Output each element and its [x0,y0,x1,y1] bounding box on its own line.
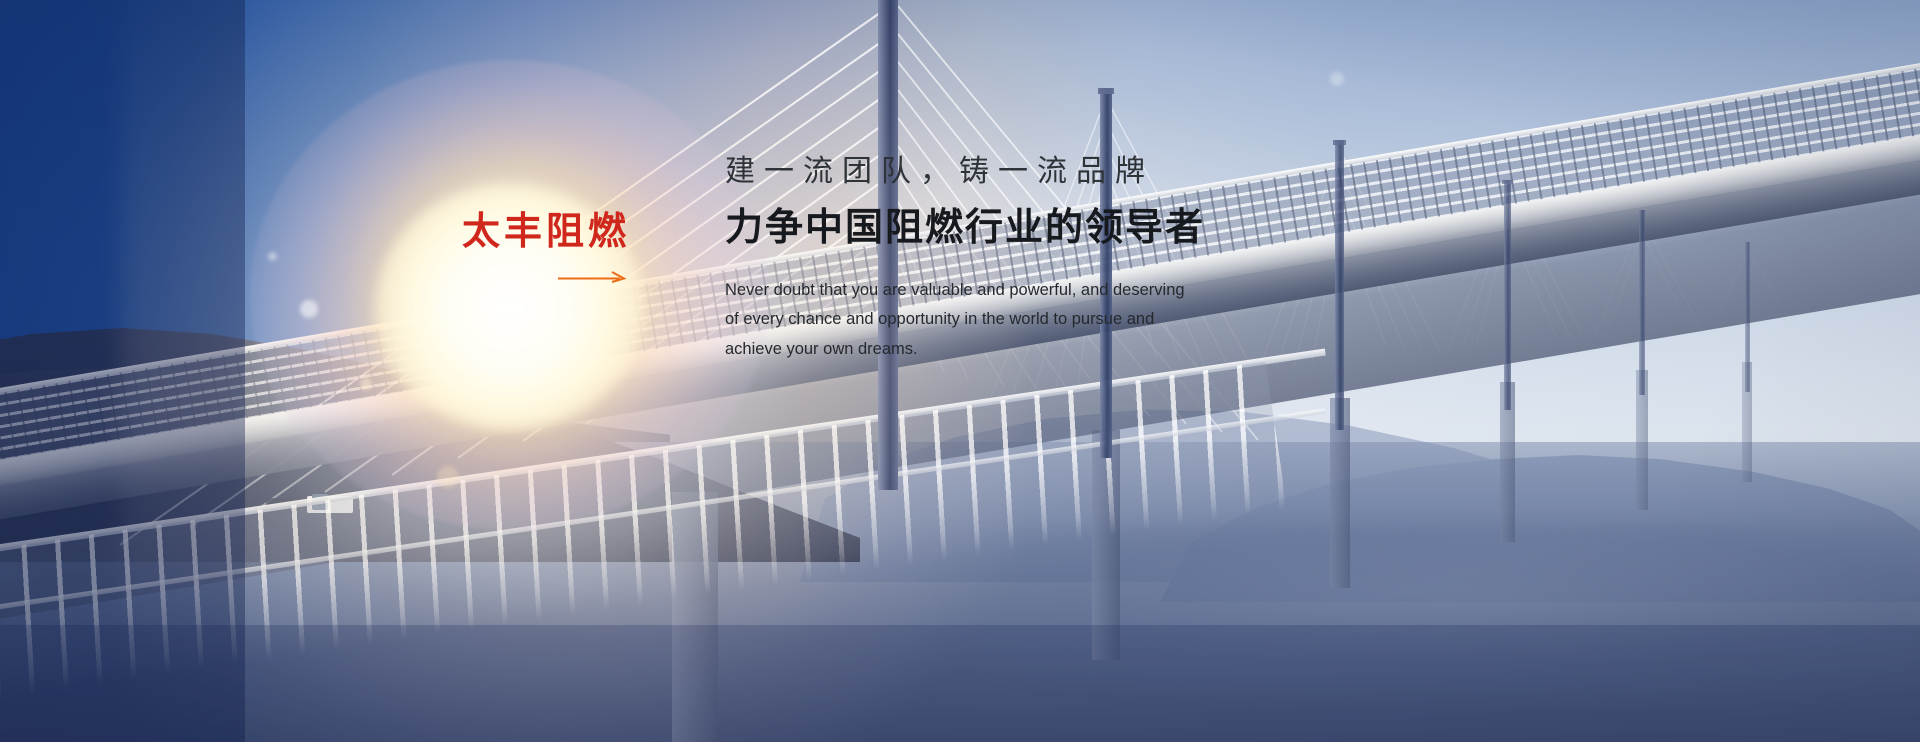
brand-logo-text: 太丰阻燃 [462,212,642,250]
description-line-3: achieve your own dreams. [725,335,1285,364]
hero-banner: 太丰阻燃 建一流团队，铸一流品牌 力争中国阻燃行业的领导者 Never doub… [0,0,1920,742]
arrow-right-icon [558,270,628,284]
headline-title: 力争中国阻燃行业的领导者 [725,208,1485,250]
description-line-2: of every chance and opportunity in the w… [725,305,1285,334]
description-paragraph: Never doubt that you are valuable and po… [725,276,1285,364]
brand-logo[interactable]: 太丰阻燃 [462,212,642,250]
headline-subtitle: 建一流团队，铸一流品牌 [725,155,1485,188]
banner-content: 太丰阻燃 建一流团队，铸一流品牌 力争中国阻燃行业的领导者 Never doub… [0,0,1920,742]
headline-block: 建一流团队，铸一流品牌 力争中国阻燃行业的领导者 Never doubt tha… [725,155,1485,364]
description-line-1: Never doubt that you are valuable and po… [725,276,1285,305]
